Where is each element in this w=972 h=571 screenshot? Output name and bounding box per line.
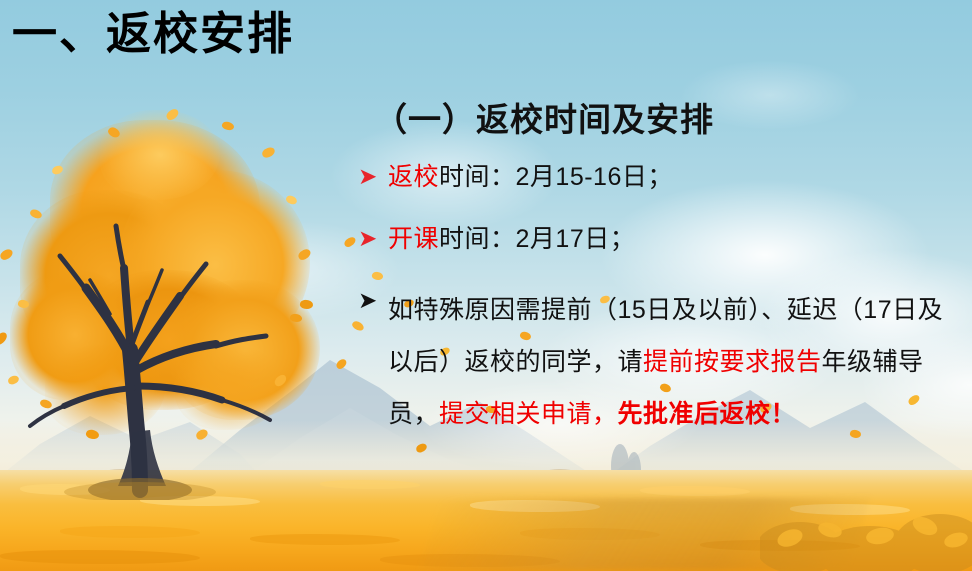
text-segment-highlight: 提交相关申请， (439, 400, 618, 428)
text-segment-emphasis: 先批准后返校！ (618, 400, 797, 428)
list-item: ➤ 开课时间：2月17日； (358, 222, 958, 284)
list-item-text: 如特殊原因需提前（15日及以前）、延迟（17日及以后）返校的同学，请提前按要求报… (388, 284, 958, 440)
page-title: 一、返校安排 (12, 8, 294, 60)
text-segment-highlight: 提前按要求报告 (643, 348, 822, 376)
text-segment: 时间：2月17日； (439, 225, 635, 253)
text-segment: 时间：2月15-16日； (439, 163, 673, 191)
arrow-bullet-icon: ➤ (358, 160, 388, 194)
list-item: ➤ 如特殊原因需提前（15日及以前）、延迟（17日及以后）返校的同学，请提前按要… (358, 284, 958, 440)
text-segment-highlight: 开课 (388, 225, 439, 253)
list-item-text: 返校时间：2月15-16日； (388, 160, 673, 194)
bullet-list: ➤ 返校时间：2月15-16日； ➤ 开课时间：2月17日； ➤ 如特殊原因需提… (358, 160, 958, 440)
list-item: ➤ 返校时间：2月15-16日； (358, 160, 958, 222)
arrow-bullet-icon: ➤ (358, 222, 388, 256)
arrow-bullet-icon: ➤ (358, 284, 388, 318)
list-item-text: 开课时间：2月17日； (388, 222, 635, 256)
section-subtitle: （一）返校时间及安排 (374, 93, 714, 141)
text-segment-highlight: 返校 (388, 163, 439, 191)
slide: 一、返校安排 （一）返校时间及安排 ➤ 返校时间：2月15-16日； ➤ 开课时… (0, 0, 972, 571)
